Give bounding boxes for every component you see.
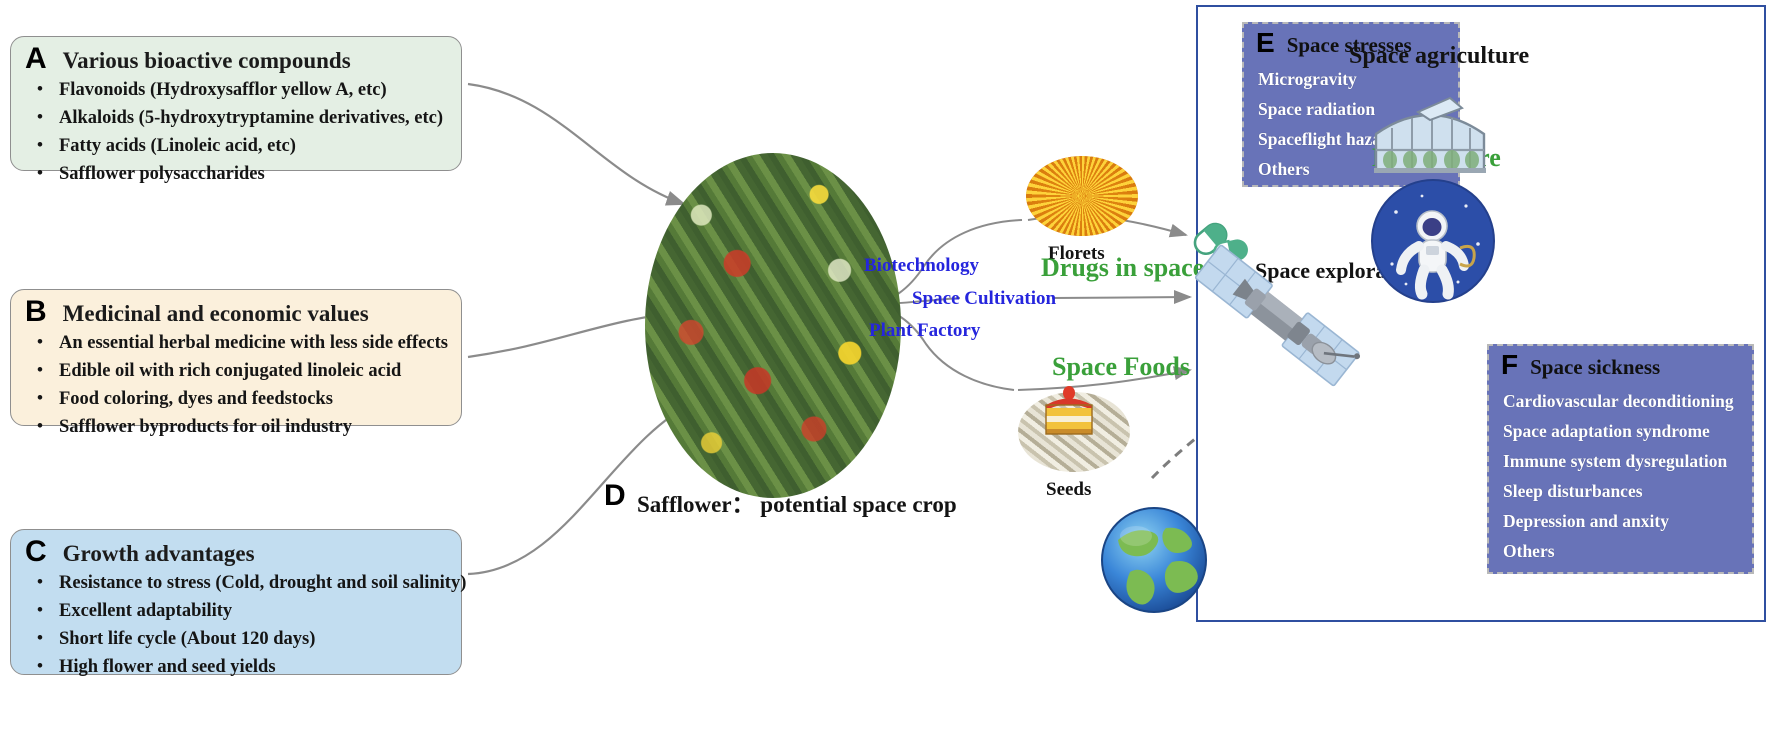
list-item: Safflower polysaccharides: [31, 160, 447, 188]
list-item: Flavonoids (Hydroxysafflor yellow A, etc…: [31, 76, 447, 104]
panel-f-header: F Space sickness: [1501, 352, 1740, 380]
panel-space-sickness: F Space sickness Cardiovascular decondit…: [1487, 344, 1754, 574]
panel-f-letter: F: [1501, 352, 1518, 378]
list-item: Immune system dysregulation: [1503, 446, 1740, 476]
panel-a-list: Flavonoids (Hydroxysafflor yellow A, etc…: [25, 76, 447, 188]
greenhouse-icon: [1366, 92, 1494, 176]
panel-c-header: C Growth advantages: [25, 538, 447, 567]
seeds-caption: Seeds: [1046, 479, 1091, 501]
label-space-agriculture: Space agriculture: [1349, 43, 1529, 70]
list-item: High flower and seed yields: [31, 653, 447, 681]
list-item: Depression and anxity: [1503, 506, 1740, 536]
panel-d-title: Safflower： potential space crop: [637, 485, 957, 519]
panel-f-list: Cardiovascular deconditioning Space adap…: [1503, 386, 1740, 566]
panel-f-title: Space sickness: [1530, 355, 1660, 380]
list-item: Excellent adaptability: [31, 597, 447, 625]
label-space-foods: Space Foods: [1052, 352, 1190, 382]
florets-photo: [1026, 156, 1138, 236]
panel-c-list: Resistance to stress (Cold, drought and …: [25, 569, 447, 681]
astronaut-icon: [1370, 178, 1496, 304]
panel-e-letter: E: [1256, 30, 1275, 56]
panel-b-letter: B: [25, 298, 47, 326]
panel-b-list: An essential herbal medicine with less s…: [25, 329, 447, 441]
satellite-icon: [1176, 222, 1376, 412]
list-item: Short life cycle (About 120 days): [31, 625, 447, 653]
list-item: Space adaptation syndrome: [1503, 416, 1740, 446]
panel-a-title: Various bioactive compounds: [63, 48, 351, 74]
panel-d-letter: D: [604, 479, 626, 513]
list-item: Resistance to stress (Cold, drought and …: [31, 569, 447, 597]
cake-icon: [1038, 383, 1100, 437]
panel-c-letter: C: [25, 538, 47, 566]
pathway-label-space-cultivation: Space Cultivation: [912, 288, 1056, 310]
panel-c-title: Growth advantages: [63, 541, 255, 567]
list-item: Sleep disturbances: [1503, 476, 1740, 506]
list-item: Alkaloids (5-hydroxytryptamine derivativ…: [31, 104, 447, 132]
safflower-plant-photo: [645, 153, 901, 498]
list-item: Fatty acids (Linoleic acid, etc): [31, 132, 447, 160]
arrow-a-to-plant: [468, 84, 684, 204]
panel-medicinal-economic-values: B Medicinal and economic values An essen…: [10, 289, 462, 426]
panel-b-header: B Medicinal and economic values: [25, 298, 447, 327]
list-item: An essential herbal medicine with less s…: [31, 329, 447, 357]
earth-icon: [1100, 506, 1208, 614]
list-item: Edible oil with rich conjugated linoleic…: [31, 357, 447, 385]
panel-a-header: A Various bioactive compounds: [25, 45, 447, 74]
panel-growth-advantages: C Growth advantages Resistance to stress…: [10, 529, 462, 675]
arrow-cultivation-to-container: [1052, 297, 1190, 298]
list-item: Cardiovascular deconditioning: [1503, 386, 1740, 416]
list-item: Others: [1503, 536, 1740, 566]
list-item: Safflower byproducts for oil industry: [31, 413, 447, 441]
panel-b-title: Medicinal and economic values: [63, 301, 369, 327]
pathway-label-plant-factory: Plant Factory: [869, 320, 980, 342]
pathway-label-biotechnology: Biotechnology: [864, 255, 979, 277]
panel-bioactive-compounds: A Various bioactive compounds Flavonoids…: [10, 36, 462, 171]
panel-a-letter: A: [25, 45, 47, 73]
list-item: Food coloring, dyes and feedstocks: [31, 385, 447, 413]
